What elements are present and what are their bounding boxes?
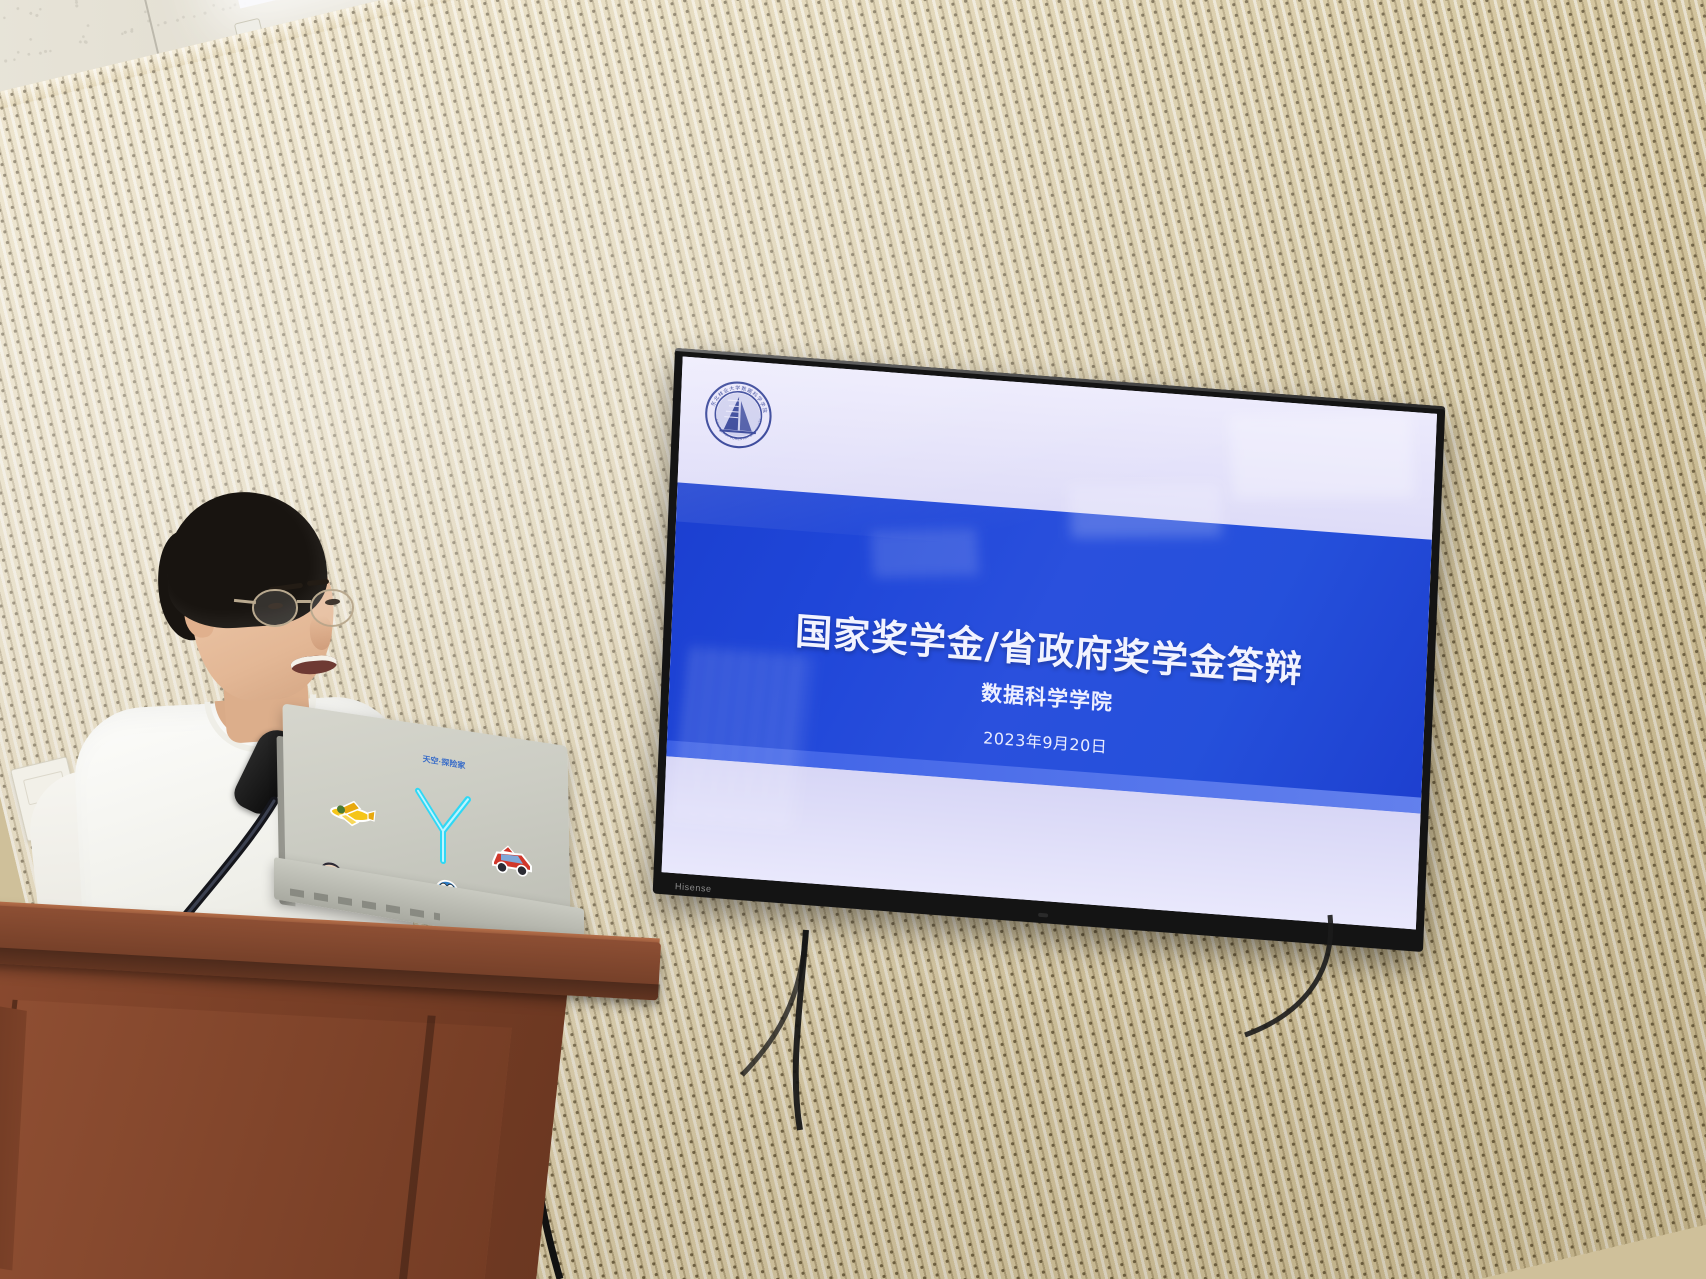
lectern (0, 905, 680, 1279)
screen-reflection (870, 529, 978, 579)
screen-reflection (1229, 414, 1414, 499)
eyeglasses-icon (252, 586, 364, 628)
glasses-lens (252, 589, 298, 627)
conference-room-scene: 东北林业大学数据科学学院 NORTHEAST FORESTRY UNIVERSI… (0, 0, 1706, 1279)
tv-bezel: 东北林业大学数据科学学院 NORTHEAST FORESTRY UNIVERSI… (653, 348, 1446, 952)
university-seal-logo: 东北林业大学数据科学学院 NORTHEAST FORESTRY UNIVERSI… (702, 377, 775, 452)
wall-mounted-tv[interactable]: 东北林业大学数据科学学院 NORTHEAST FORESTRY UNIVERSI… (653, 348, 1446, 952)
legion-y-logo-icon (412, 786, 474, 870)
tv-screen[interactable]: 东北林业大学数据科学学院 NORTHEAST FORESTRY UNIVERSI… (662, 357, 1437, 930)
glasses-bridge (297, 600, 311, 603)
presentation-slide: 东北林业大学数据科学学院 NORTHEAST FORESTRY UNIVERSI… (662, 357, 1437, 930)
ir-receiver-icon (1038, 913, 1048, 918)
screen-reflection (1069, 484, 1222, 537)
lectern-front-panel (0, 1000, 512, 1279)
tv-brand-label: Hisense (675, 881, 712, 894)
